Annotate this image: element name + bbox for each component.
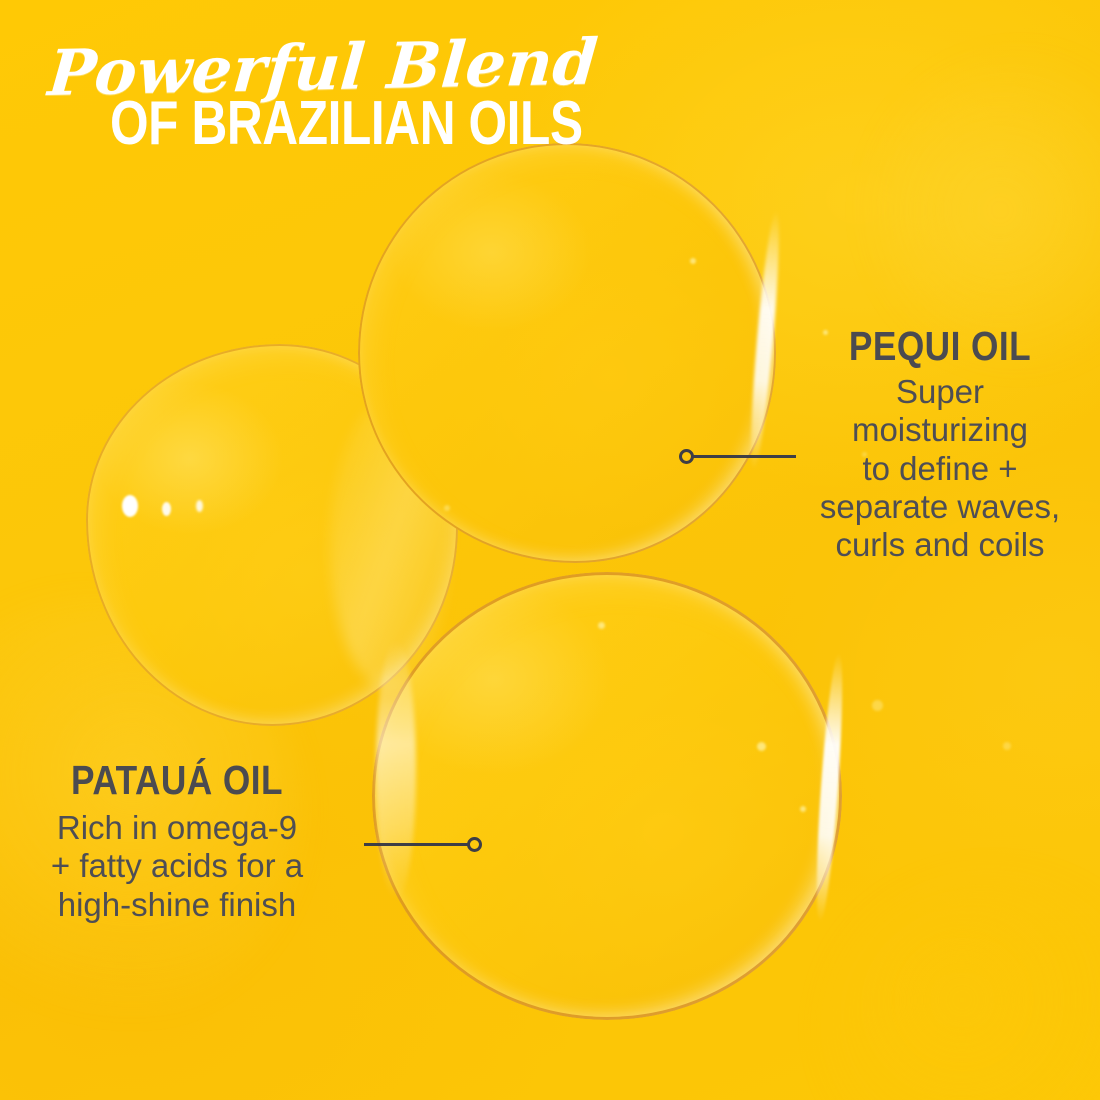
callout-pequi-oil: PEQUI OIL Super moisturizing to define +… <box>790 326 1090 564</box>
leader-line-pataua <box>364 837 484 853</box>
callout-pataua-body: Rich in omega-9 + fatty acids for a high… <box>12 809 342 924</box>
callout-pataua-title: PATAUÁ OIL <box>35 760 319 801</box>
callout-pataua-body-line: Rich in omega-9 <box>12 809 342 847</box>
leader-stroke-pataua <box>364 843 470 846</box>
leader-dot-pataua-icon <box>467 837 482 852</box>
headline-block-line: OF BRAZILIAN OILS <box>110 95 583 152</box>
callout-pequi-body-line: curls and coils <box>790 526 1090 564</box>
headline: Powerful Blend OF BRAZILIAN OILS <box>38 44 701 152</box>
callout-pequi-title: PEQUI OIL <box>811 326 1069 367</box>
leader-line-pequi <box>679 449 799 465</box>
callout-pequi-body: Super moisturizing to define + separate … <box>790 373 1090 564</box>
callout-pataua-body-line: high-shine finish <box>12 886 342 924</box>
callout-pequi-body-line: separate waves, <box>790 488 1090 526</box>
oil-blend-infographic-poster: Powerful Blend OF BRAZILIAN OILS PEQUI O… <box>0 0 1100 1100</box>
callout-pequi-body-line: Super <box>790 373 1090 411</box>
callout-pataua-oil: PATAUÁ OIL Rich in omega-9 + fatty acids… <box>12 760 342 924</box>
callout-pataua-body-line: + fatty acids for a <box>12 847 342 885</box>
leader-stroke-pequi <box>692 455 796 458</box>
callout-pequi-body-line: moisturizing <box>790 411 1090 449</box>
callout-pequi-body-line: to define + <box>790 450 1090 488</box>
